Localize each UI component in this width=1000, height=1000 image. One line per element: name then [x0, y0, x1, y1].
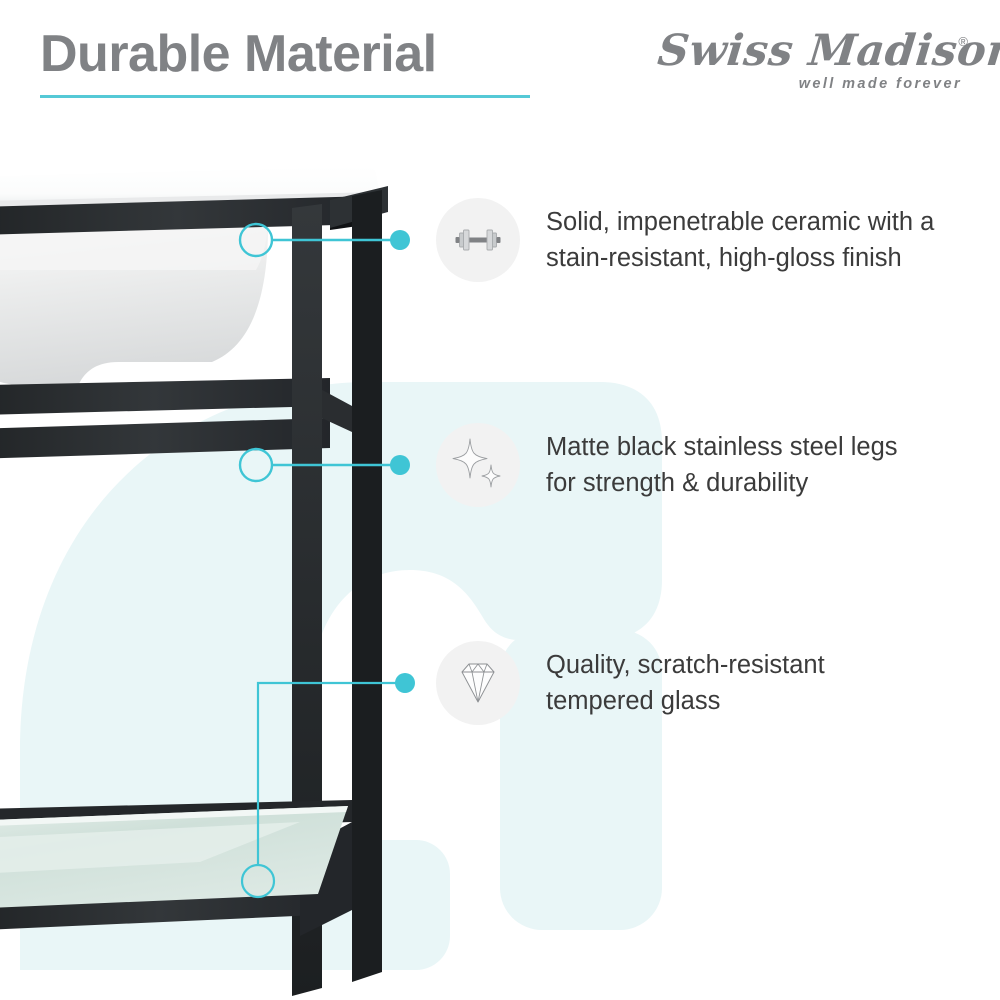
registered-trademark-icon: ® [958, 34, 968, 49]
feature-text-1-line-1: Solid, impenetrable ceramic with a [546, 204, 934, 240]
feature-text-2-line-2: for strength & durability [546, 465, 898, 501]
feature-text-3-line-1: Quality, scratch-resistant [546, 647, 825, 683]
dumbbell-icon [450, 212, 506, 268]
feature-icon-badge-3 [436, 641, 520, 725]
feature-text-1-line-2: stain-resistant, high-gloss finish [546, 240, 934, 276]
feature-icon-badge-1 [436, 198, 520, 282]
header: Durable Material Swiss Madison ® well ma… [0, 0, 1000, 120]
logo-tagline: well made forever [799, 76, 962, 92]
page-title: Durable Material [40, 24, 437, 84]
title-underline [40, 95, 530, 98]
tempered-glass-shelf [0, 806, 348, 910]
feature-icon-badge-2 [436, 423, 520, 507]
logo-wordmark: Swiss Madison [655, 26, 960, 76]
product-image [0, 150, 430, 1000]
feature-text-1: Solid, impenetrable ceramic with a stain… [546, 204, 934, 276]
feature-callout-ceramic: Solid, impenetrable ceramic with a stain… [436, 198, 934, 282]
infographic-page: Durable Material Swiss Madison ® well ma… [0, 0, 1000, 1000]
feature-callout-tempered-glass: Quality, scratch-resistant tempered glas… [436, 641, 825, 725]
brand-logo: Swiss Madison ® well made forever [658, 26, 968, 98]
sparkle-icon [448, 435, 508, 495]
feature-text-2-line-1: Matte black stainless steel legs [546, 429, 898, 465]
diamond-icon [452, 657, 504, 709]
feature-text-3-line-2: tempered glass [546, 683, 825, 719]
feature-text-3: Quality, scratch-resistant tempered glas… [546, 647, 825, 719]
feature-text-2: Matte black stainless steel legs for str… [546, 429, 898, 501]
ceramic-basin [0, 212, 268, 386]
feature-callout-steel-legs: Matte black stainless steel legs for str… [436, 423, 898, 507]
